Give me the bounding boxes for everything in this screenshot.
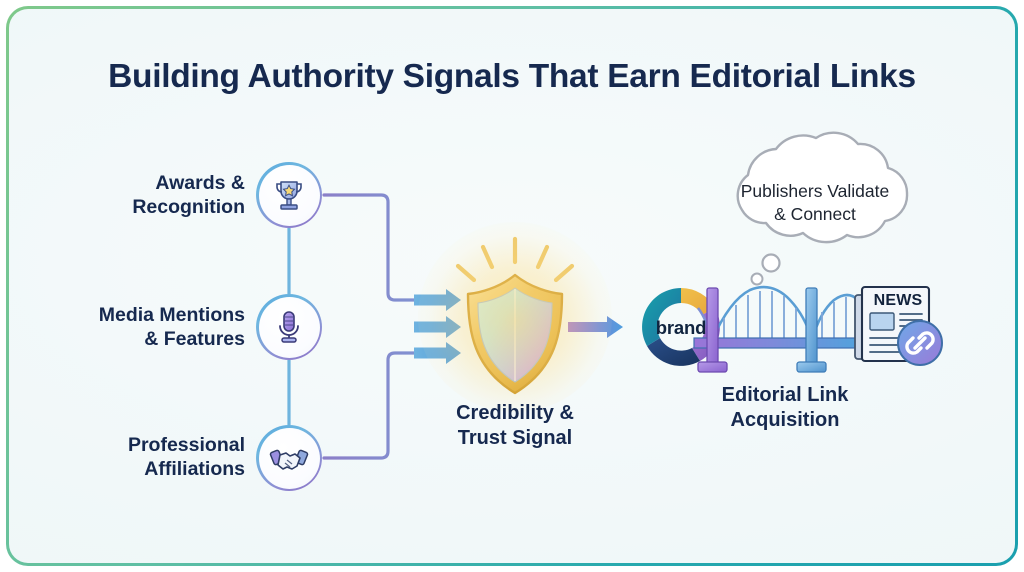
- thought-line1: Publishers Validate: [700, 180, 930, 203]
- shield-glow: [418, 222, 612, 412]
- trophy-icon: [270, 176, 308, 214]
- page-title: Building Authority Signals That Earn Edi…: [0, 58, 1024, 96]
- outcome-caption: Editorial Link Acquisition: [655, 383, 915, 433]
- infographic-root: Building Authority Signals That Earn Edi…: [0, 0, 1024, 572]
- source-label-media: Media Mentions & Features: [40, 304, 245, 352]
- node-face: [259, 165, 320, 226]
- handshake-icon: [269, 438, 309, 478]
- source-label-affiliations: Professional Affiliations: [75, 434, 245, 482]
- outcome-caption-line1: Editorial Link: [655, 383, 915, 408]
- source-node-media[interactable]: [256, 294, 322, 360]
- source-label-awards-line1: Awards &: [60, 172, 245, 196]
- source-label-affiliations-line1: Professional: [75, 434, 245, 458]
- thought-line2: & Connect: [700, 203, 930, 226]
- node-face: [259, 297, 320, 358]
- center-caption: Credibility & Trust Signal: [385, 401, 645, 451]
- center-caption-line1: Credibility &: [385, 401, 645, 426]
- source-label-awards: Awards & Recognition: [60, 172, 245, 220]
- center-caption-line2: Trust Signal: [385, 426, 645, 451]
- newspaper-headline: NEWS: [867, 292, 929, 310]
- thought-bubble-text: Publishers Validate & Connect: [700, 180, 930, 226]
- microphone-icon: [270, 308, 308, 346]
- brand-logo-label: brand: [640, 317, 722, 339]
- source-node-affiliations[interactable]: [256, 425, 322, 491]
- source-label-awards-line2: Recognition: [60, 196, 245, 220]
- node-face: [259, 428, 320, 489]
- source-label-media-line2: & Features: [40, 328, 245, 352]
- source-label-media-line1: Media Mentions: [40, 304, 245, 328]
- source-label-affiliations-line2: Affiliations: [75, 458, 245, 482]
- outcome-caption-line2: Acquisition: [655, 408, 915, 433]
- credibility-shield: [440, 240, 590, 390]
- source-node-awards[interactable]: [256, 162, 322, 228]
